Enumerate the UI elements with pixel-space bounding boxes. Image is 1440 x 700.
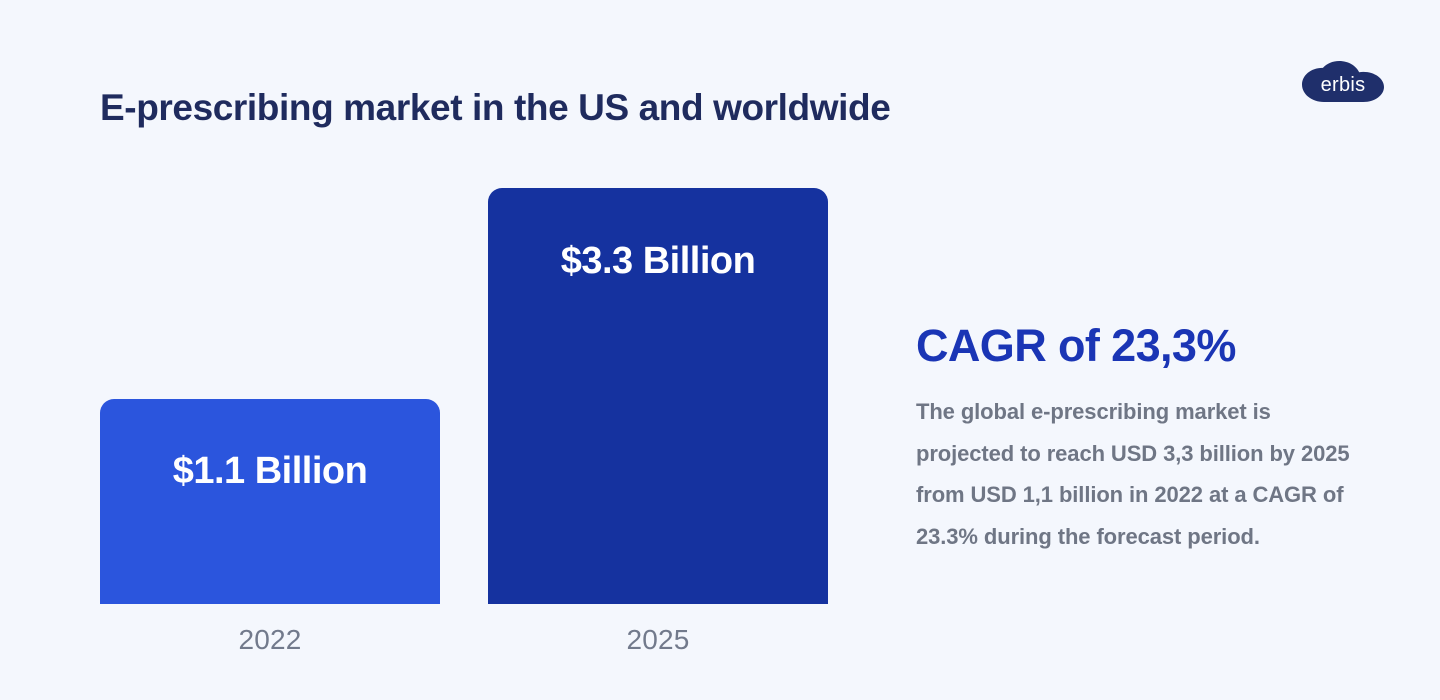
bar-2022[interactable]: $1.1 Billion [100, 399, 440, 604]
bar-2025[interactable]: $3.3 Billion [488, 188, 828, 604]
insight-panel: CAGR of 23,3% The global e-prescribing m… [916, 322, 1376, 557]
erbis-logo[interactable]: erbis [1302, 61, 1384, 103]
category-label-2025: 2025 [488, 624, 828, 656]
insight-body-text: The global e-prescribing market is proje… [916, 369, 1366, 557]
bar-value-label-2025: $3.3 Billion [488, 240, 828, 283]
category-label-2022: 2022 [100, 624, 440, 656]
cloud-logo-icon: erbis [1302, 61, 1384, 103]
infographic-canvas: E-prescribing market in the US and world… [0, 0, 1440, 700]
bar-chart: $1.1 Billion $3.3 Billion 2022 2025 [0, 0, 900, 700]
svg-text:erbis: erbis [1321, 74, 1366, 96]
bar-value-label-2022: $1.1 Billion [100, 450, 440, 493]
cagr-heading: CAGR of 23,3% [916, 322, 1376, 369]
